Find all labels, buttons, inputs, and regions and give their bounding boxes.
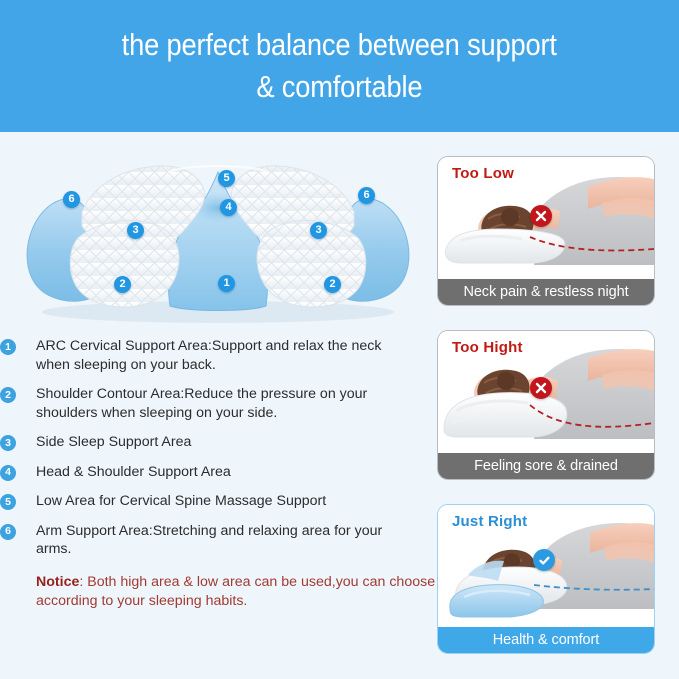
feature-text-6: Arm Support Area:Stretching and relaxing… bbox=[36, 522, 408, 559]
check-mark-icon bbox=[533, 549, 555, 571]
feature-item-2: 2 Shoulder Contour Area:Reduce the press… bbox=[0, 385, 430, 422]
feature-item-3: 3 Side Sleep Support Area bbox=[0, 433, 430, 452]
feature-badge-4: 4 bbox=[0, 465, 16, 481]
feature-item-5: 5 Low Area for Cervical Spine Massage Su… bbox=[0, 492, 430, 511]
comparison-cards: Too Low Neck pain & restless night bbox=[437, 156, 655, 678]
pillow-callout-6-left[interactable]: 6 bbox=[63, 191, 80, 208]
pillow-callout-2-right[interactable]: 2 bbox=[324, 276, 341, 293]
header-title-line-1: the perfect balance between support bbox=[122, 24, 557, 66]
feature-item-4: 4 Head & Shoulder Support Area bbox=[0, 463, 430, 482]
feature-badge-3: 3 bbox=[0, 435, 16, 451]
feature-text-2: Shoulder Contour Area:Reduce the pressur… bbox=[36, 385, 408, 422]
card-too-low[interactable]: Too Low Neck pain & restless night bbox=[437, 156, 655, 306]
pillow-callout-2-left[interactable]: 2 bbox=[114, 276, 131, 293]
card-too-high[interactable]: Too Hight Feeling sore & drained bbox=[437, 330, 655, 480]
feature-badge-1: 1 bbox=[0, 339, 16, 355]
pillow-callout-6-right[interactable]: 6 bbox=[358, 187, 375, 204]
pillow-diagram: 5 4 1 3 3 2 2 6 6 bbox=[18, 146, 418, 326]
card-just-right-title: Just Right bbox=[452, 513, 527, 530]
card-too-high-scene: Too Hight bbox=[438, 331, 654, 453]
feature-text-4: Head & Shoulder Support Area bbox=[36, 463, 408, 482]
card-too-low-caption: Neck pain & restless night bbox=[438, 279, 654, 305]
card-too-low-scene: Too Low bbox=[438, 157, 654, 279]
card-just-right-caption: Health & comfort bbox=[438, 627, 654, 653]
card-just-right[interactable]: Just Right Health & comfort bbox=[437, 504, 655, 654]
left-column: 5 4 1 3 3 2 2 6 6 1 ARC Cervical Support… bbox=[0, 132, 430, 679]
feature-item-1: 1 ARC Cervical Support Area:Support and … bbox=[0, 337, 430, 374]
notice-label: Notice bbox=[36, 574, 79, 590]
x-mark-icon bbox=[530, 377, 552, 399]
card-too-low-title: Too Low bbox=[452, 165, 514, 182]
pillow-callout-3-right[interactable]: 3 bbox=[310, 222, 327, 239]
feature-text-3: Side Sleep Support Area bbox=[36, 433, 408, 452]
pillow-callout-3-left[interactable]: 3 bbox=[127, 222, 144, 239]
pillow-callout-5[interactable]: 5 bbox=[218, 170, 235, 187]
notice-text: Notice: Both high area & low area can be… bbox=[0, 573, 444, 611]
card-too-high-title: Too Hight bbox=[452, 339, 523, 356]
header-title-line-2: & comfortable bbox=[256, 66, 422, 108]
page-header: the perfect balance between support & co… bbox=[0, 0, 679, 132]
feature-badge-2: 2 bbox=[0, 387, 16, 403]
feature-item-6: 6 Arm Support Area:Stretching and relaxi… bbox=[0, 522, 430, 559]
card-too-high-caption: Feeling sore & drained bbox=[438, 453, 654, 479]
x-mark-icon bbox=[530, 205, 552, 227]
feature-badge-5: 5 bbox=[0, 494, 16, 510]
feature-text-1: ARC Cervical Support Area:Support and re… bbox=[36, 337, 408, 374]
feature-badge-6: 6 bbox=[0, 524, 16, 540]
notice-body: Both high area & low area can be used,yo… bbox=[36, 574, 435, 609]
pillow-illustration bbox=[18, 146, 418, 326]
feature-list: 1 ARC Cervical Support Area:Support and … bbox=[0, 337, 430, 611]
card-just-right-scene: Just Right bbox=[438, 505, 654, 627]
pillow-callout-1[interactable]: 1 bbox=[218, 275, 235, 292]
feature-text-5: Low Area for Cervical Spine Massage Supp… bbox=[36, 492, 408, 511]
pillow-callout-4[interactable]: 4 bbox=[220, 199, 237, 216]
